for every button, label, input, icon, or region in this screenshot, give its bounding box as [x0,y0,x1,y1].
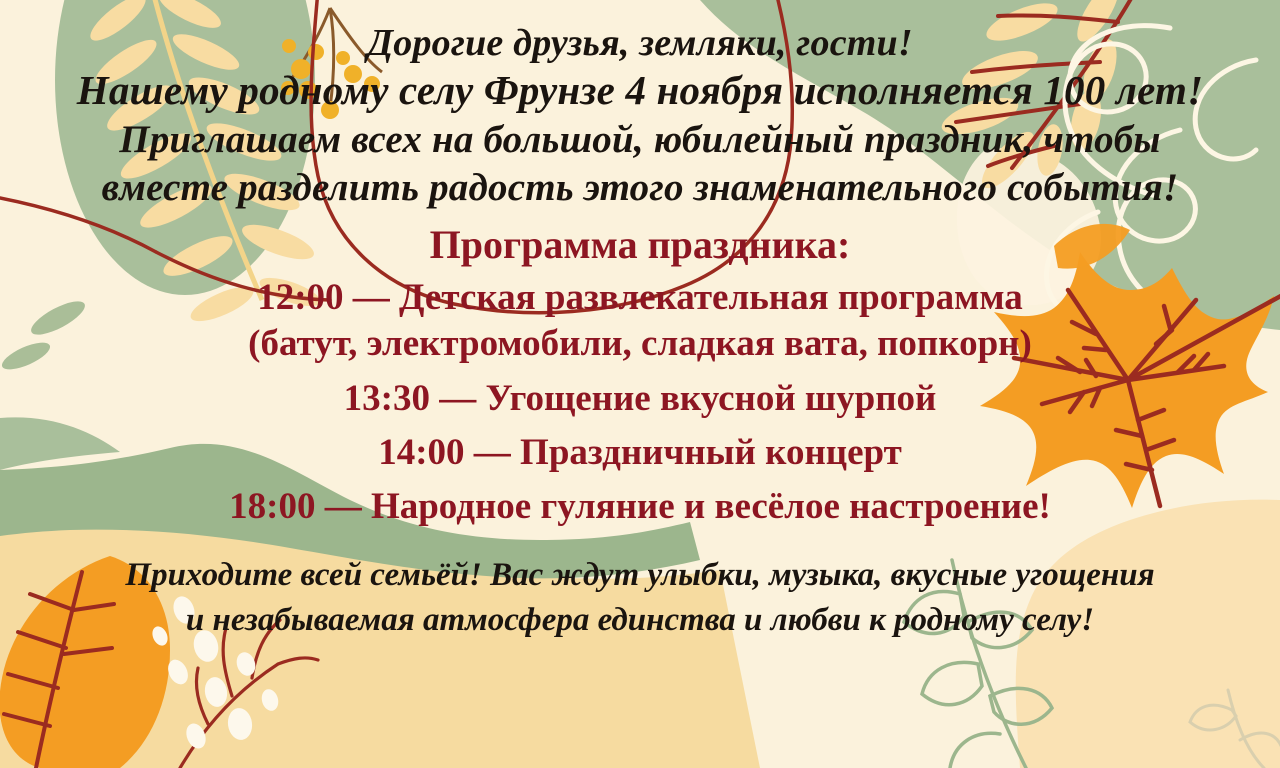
headline-line-1: Дорогие друзья, земляки, гости! [0,22,1280,65]
closing-block: Приходите всей семьёй! Вас ждут улыбки, … [0,556,1280,641]
closing-line-1: Приходите всей семьёй! Вас ждут улыбки, … [0,556,1280,596]
program-item-1400: 14:00 — Праздничный концерт [0,431,1280,475]
headline-line-3: Приглашаем всех на большой, юбилейный пр… [0,118,1280,162]
program-item-1200: 12:00 — Детская развлекательная программ… [0,276,1280,320]
program-block: Программа праздника: 12:00 — Детская раз… [0,224,1280,530]
program-item-1200-detail: (батут, электромобили, сладкая вата, поп… [0,322,1280,366]
closing-line-2: и незабываемая атмосфера единства и любв… [0,601,1280,641]
headline-line-2: Нашему родному селу Фрунзе 4 ноября испо… [0,68,1280,114]
poster-content: Дорогие друзья, земляки, гости! Нашему р… [0,0,1280,768]
headline-line-4: вместе разделить радость этого знаменате… [0,166,1280,210]
program-item-1800: 18:00 — Народное гуляние и весёлое настр… [0,485,1280,529]
poster-canvas: Дорогие друзья, земляки, гости! Нашему р… [0,0,1280,768]
headline-block: Дорогие друзья, земляки, гости! Нашему р… [0,22,1280,210]
program-item-1330: 13:30 — Угощение вкусной шурпой [0,377,1280,421]
program-title: Программа праздника: [0,224,1280,266]
